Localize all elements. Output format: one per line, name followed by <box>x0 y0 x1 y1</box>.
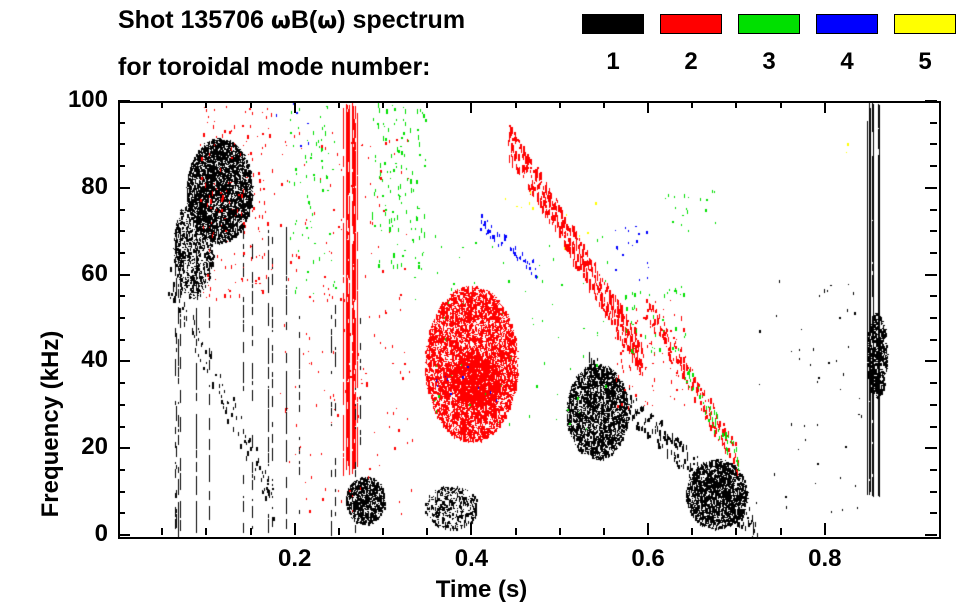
x-tick-major-top <box>647 101 649 113</box>
y-tick-minor-right <box>930 404 937 406</box>
y-tick-major-right <box>925 447 937 449</box>
x-tick-minor <box>205 528 207 535</box>
y-tick-minor <box>118 426 125 428</box>
x-tick-major <box>647 523 649 535</box>
y-tick-major-right <box>925 100 937 102</box>
y-tick-minor-right <box>930 230 937 232</box>
spectrogram-figure: Shot 135706 ωB(ω) spectrum for toroidal … <box>0 0 963 615</box>
legend: 1 2 3 4 5 <box>582 14 954 86</box>
x-tick-minor <box>515 528 517 535</box>
y-tick-minor-right <box>930 143 937 145</box>
x-tick-minor-top <box>559 101 561 108</box>
y-tick-minor <box>118 230 125 232</box>
chart-title-line1: Shot 135706 ωB(ω) spectrum <box>118 6 465 35</box>
x-tick-minor-top <box>426 101 428 108</box>
x-tick-minor-top <box>161 101 163 108</box>
x-tick-label: 0.4 <box>431 545 511 573</box>
legend-label-2: 2 <box>660 48 722 76</box>
y-tick-minor <box>118 404 125 406</box>
y-tick-major <box>118 187 130 189</box>
y-tick-minor <box>118 339 125 341</box>
y-tick-minor <box>118 209 125 211</box>
y-tick-minor <box>118 491 125 493</box>
x-tick-minor-top <box>250 101 252 108</box>
y-tick-major-right <box>925 274 937 276</box>
x-tick-label: 0.6 <box>608 545 688 573</box>
spectrogram-canvas <box>120 103 939 537</box>
legend-label-3: 3 <box>738 48 800 76</box>
plot-area <box>118 101 941 539</box>
x-tick-minor <box>426 528 428 535</box>
y-tick-minor <box>118 122 125 124</box>
x-tick-major <box>470 523 472 535</box>
legend-label-1: 1 <box>582 48 644 76</box>
y-tick-minor-right <box>930 165 937 167</box>
y-tick-minor <box>118 317 125 319</box>
legend-label-4: 4 <box>816 48 878 76</box>
x-tick-minor <box>780 528 782 535</box>
title-mid: B( <box>291 6 317 34</box>
x-tick-major-top <box>470 101 472 113</box>
y-tick-major <box>118 360 130 362</box>
y-tick-minor-right <box>930 122 937 124</box>
y-tick-minor-right <box>930 295 937 297</box>
x-tick-major-top <box>294 101 296 113</box>
y-tick-major <box>118 274 130 276</box>
x-tick-label: 0.2 <box>255 545 335 573</box>
legend-swatch-5 <box>894 14 956 34</box>
y-tick-major-right <box>925 534 937 536</box>
x-tick-minor <box>735 528 737 535</box>
legend-label-5: 5 <box>894 48 956 76</box>
y-tick-minor-right <box>930 491 937 493</box>
legend-swatch-1 <box>582 14 644 34</box>
legend-item-3[interactable]: 3 <box>738 14 800 34</box>
x-tick-minor <box>338 528 340 535</box>
x-tick-minor-top <box>603 101 605 108</box>
x-tick-minor <box>559 528 561 535</box>
x-tick-minor-top <box>338 101 340 108</box>
y-tick-major-right <box>925 360 937 362</box>
x-tick-minor-top <box>205 101 207 108</box>
y-tick-minor <box>118 382 125 384</box>
x-tick-minor <box>161 528 163 535</box>
legend-item-1[interactable]: 1 <box>582 14 644 34</box>
x-tick-minor <box>603 528 605 535</box>
y-tick-label: 100 <box>38 86 108 114</box>
legend-item-5[interactable]: 5 <box>894 14 956 34</box>
y-tick-minor-right <box>930 426 937 428</box>
y-tick-label: 80 <box>38 173 108 201</box>
y-tick-minor-right <box>930 512 937 514</box>
chart-title-line2: for toroidal mode number: <box>118 53 431 82</box>
y-tick-minor-right <box>930 469 937 471</box>
x-tick-major-top <box>824 101 826 113</box>
x-tick-minor-top <box>735 101 737 108</box>
y-tick-major <box>118 447 130 449</box>
y-tick-minor <box>118 469 125 471</box>
y-tick-minor <box>118 165 125 167</box>
x-tick-minor-top <box>515 101 517 108</box>
legend-swatch-4 <box>816 14 878 34</box>
title-suffix: ) spectrum <box>337 6 465 34</box>
y-tick-minor <box>118 252 125 254</box>
x-tick-minor <box>691 528 693 535</box>
x-tick-minor-top <box>382 101 384 108</box>
y-tick-minor-right <box>930 252 937 254</box>
y-tick-minor <box>118 143 125 145</box>
y-axis-title-wrap: Frequency (kHz) <box>18 200 48 440</box>
x-tick-minor <box>250 528 252 535</box>
x-tick-label: 0.8 <box>785 545 865 573</box>
x-tick-major <box>824 523 826 535</box>
omega-symbol-2: ω <box>317 8 337 34</box>
y-axis-title: Frequency (kHz) <box>37 309 65 539</box>
y-tick-minor-right <box>930 209 937 211</box>
y-tick-label: 60 <box>38 260 108 288</box>
y-tick-minor <box>118 295 125 297</box>
legend-swatch-2 <box>660 14 722 34</box>
x-tick-major <box>294 523 296 535</box>
legend-item-4[interactable]: 4 <box>816 14 878 34</box>
omega-symbol-1: ω <box>271 8 291 34</box>
y-tick-major <box>118 534 130 536</box>
y-tick-major-right <box>925 187 937 189</box>
x-tick-minor <box>382 528 384 535</box>
y-tick-minor-right <box>930 317 937 319</box>
x-axis-title: Time (s) <box>0 576 963 604</box>
title-prefix: Shot 135706 <box>118 6 271 34</box>
y-tick-major <box>118 100 130 102</box>
y-tick-minor-right <box>930 339 937 341</box>
y-tick-minor <box>118 512 125 514</box>
y-tick-minor-right <box>930 382 937 384</box>
x-tick-minor-top <box>780 101 782 108</box>
legend-swatch-3 <box>738 14 800 34</box>
x-tick-minor-top <box>691 101 693 108</box>
legend-item-2[interactable]: 2 <box>660 14 722 34</box>
